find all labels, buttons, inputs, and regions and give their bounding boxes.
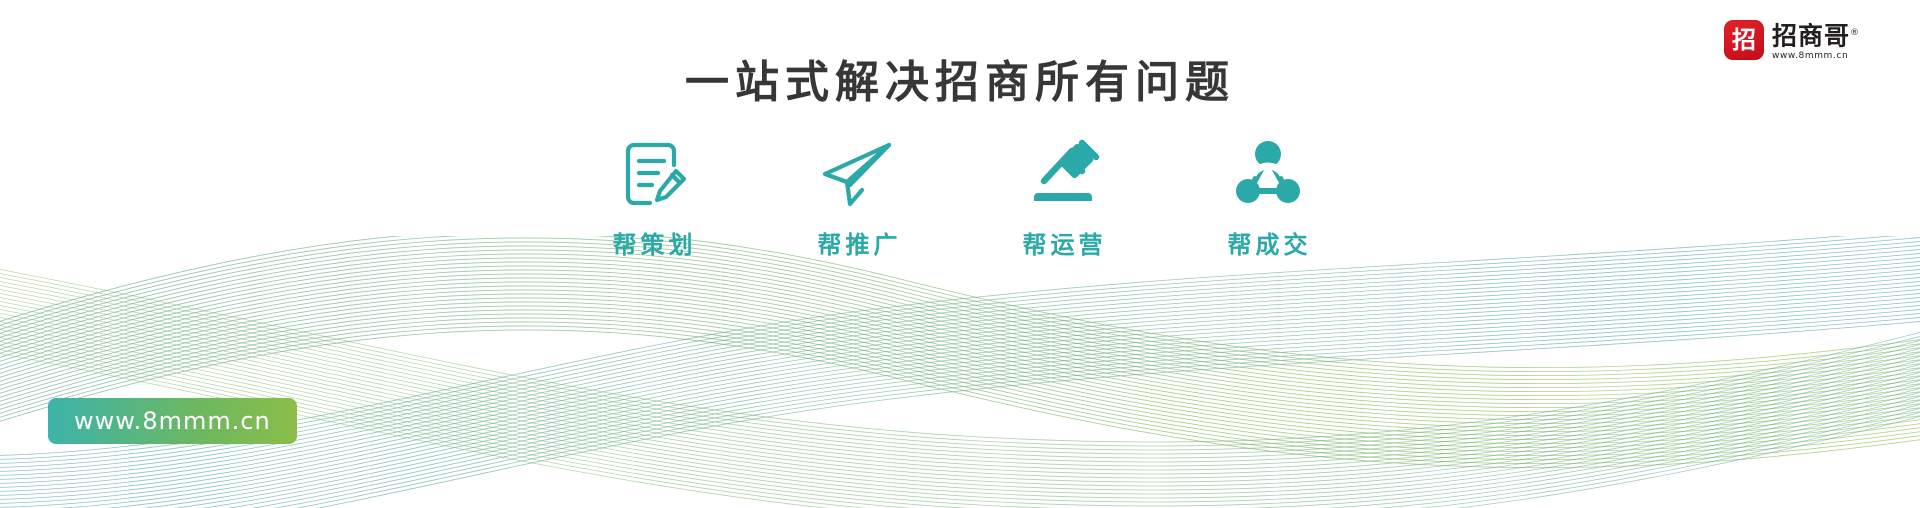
website-url-text: www.8mmm.cn [74, 407, 271, 435]
paper-plane-icon [817, 135, 899, 213]
logo-mark-icon: 招 [1724, 20, 1764, 60]
feature-item-promotion[interactable]: 帮推广 [785, 135, 930, 259]
logo-name: 招商哥® [1772, 20, 1860, 49]
logo-mark-char: 招 [1732, 28, 1756, 52]
wave-decoration [0, 236, 1920, 508]
promo-banner: 招 招商哥® www.8mmm.cn 一站式解决招商所有问题 [0, 0, 1920, 508]
feature-label: 帮运营 [1019, 231, 1107, 259]
website-url-badge[interactable]: www.8mmm.cn [48, 398, 297, 444]
feature-list: 帮策划 帮推广 [0, 135, 1920, 259]
feature-label: 帮成交 [1224, 231, 1312, 259]
feature-label: 帮策划 [609, 231, 697, 259]
feature-item-planning[interactable]: 帮策划 [580, 135, 725, 259]
feature-item-operations[interactable]: 帮运营 [990, 135, 1135, 259]
registered-mark-icon: ® [1850, 28, 1860, 38]
feature-item-closing[interactable]: 帮成交 [1195, 135, 1340, 259]
people-network-icon [1229, 135, 1307, 213]
document-pencil-icon [614, 135, 692, 213]
feature-label: 帮推广 [814, 231, 902, 259]
gavel-icon [1022, 135, 1104, 213]
logo-name-text: 招商哥 [1772, 21, 1850, 50]
page-title: 一站式解决招商所有问题 [0, 56, 1920, 110]
